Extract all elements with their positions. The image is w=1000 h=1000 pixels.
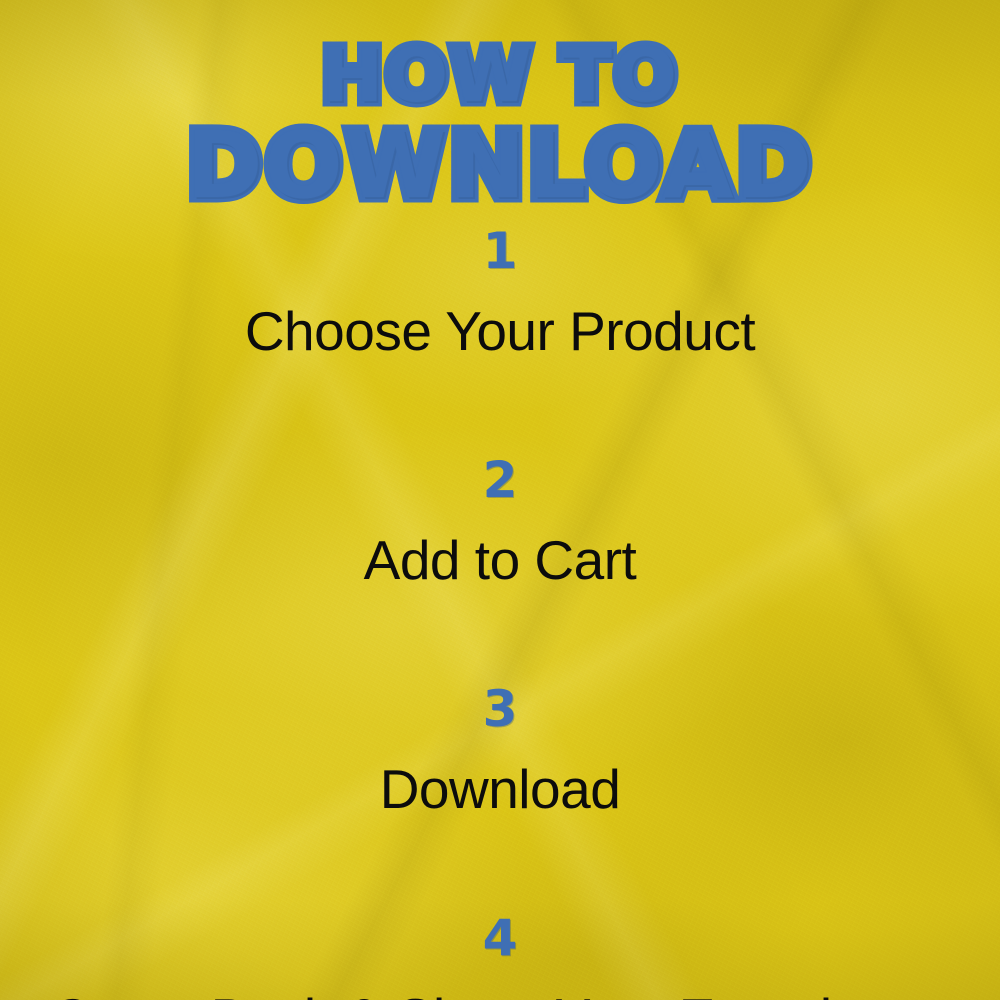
step-number-4: 4 bbox=[0, 913, 1000, 963]
page-title-line-2: DOWNLOAD bbox=[0, 124, 1000, 209]
step-number-3: 3 bbox=[0, 684, 1000, 734]
step-number-2: 2 bbox=[0, 455, 1000, 505]
page-title-line-1: HOW TO bbox=[0, 42, 1000, 110]
step-number-1: 1 bbox=[0, 226, 1000, 276]
step-label-1: Choose Your Product bbox=[0, 304, 1000, 359]
step-item-3: 3 Download bbox=[0, 684, 1000, 817]
step-item-2: 2 Add to Cart bbox=[0, 455, 1000, 588]
step-label-2: Add to Cart bbox=[0, 533, 1000, 588]
step-label-4: Come Back & Share Your Experience bbox=[0, 991, 1000, 1000]
how-to-download-poster: HOW TO DOWNLOAD 1 Choose Your Product 2 … bbox=[0, 0, 1000, 1000]
poster-content: HOW TO DOWNLOAD 1 Choose Your Product 2 … bbox=[0, 0, 1000, 1000]
step-item-1: 1 Choose Your Product bbox=[0, 226, 1000, 359]
step-label-3: Download bbox=[0, 762, 1000, 817]
step-item-4: 4 Come Back & Share Your Experience bbox=[0, 913, 1000, 1000]
page-title: HOW TO DOWNLOAD bbox=[0, 42, 1000, 209]
steps-list: 1 Choose Your Product 2 Add to Cart 3 Do… bbox=[0, 226, 1000, 1000]
